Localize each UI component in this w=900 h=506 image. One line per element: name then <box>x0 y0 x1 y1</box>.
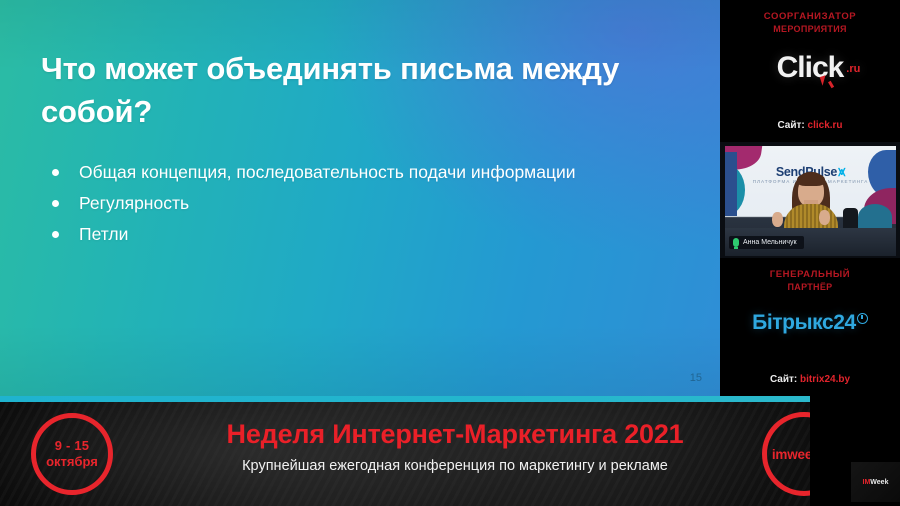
event-subtitle: Крупнейшая ежегодная конференция по марк… <box>190 457 720 476</box>
clock-ring-icon <box>857 313 868 324</box>
sponsor-card-coorganizer[interactable]: СООРГАНИЗАТОР мероприятия Click .ru Сайт… <box>720 0 900 142</box>
sponsor-heading: СООРГАНИЗАТОР мероприятия <box>720 11 900 35</box>
bullet-dot-icon <box>52 200 59 207</box>
event-date-badge: 9 - 15 октября <box>31 413 113 495</box>
sponsor-heading: ГЕНЕРАЛЬНЫЙ партнёр <box>720 269 900 293</box>
site-url[interactable]: click.ru <box>808 120 843 131</box>
bullet-dot-icon <box>52 169 59 176</box>
event-banner: 9 - 15 октября Неделя Интернет-Маркетинг… <box>0 396 900 506</box>
pulse-icon: ⩙ <box>838 164 845 179</box>
presenter-hand-right <box>819 210 830 225</box>
sponsor-heading-line2: партнёр <box>720 281 900 293</box>
backdrop-shape-blue-left <box>725 152 737 216</box>
sponsor-heading-line1: СООРГАНИЗАТОР <box>764 11 857 22</box>
event-title: Неделя Интернет-Маркетинга 2021 <box>190 417 720 451</box>
clickru-logo: Click .ru <box>720 52 900 96</box>
site-label: Сайт: <box>770 374 797 385</box>
presentation-slide: Что может объединять письма между собой?… <box>0 0 720 396</box>
speaker-name-badge: Анна Мельничук <box>729 236 804 249</box>
sponsor-heading-line2: мероприятия <box>720 23 900 35</box>
imweek-watermark-suffix: Week <box>870 479 888 486</box>
imweek-watermark: IMWeek <box>851 462 900 502</box>
sponsor-rail: СООРГАНИЗАТОР мероприятия Click .ru Сайт… <box>720 0 900 396</box>
sponsor-site-line: Сайт: bitrix24.by <box>720 374 900 385</box>
slide-bullet-list: Общая концепция, последовательность пода… <box>46 158 646 251</box>
bitrix24-wordmark: Бітрыкс24 <box>752 311 868 334</box>
speaker-name: Анна Мельничук <box>743 239 797 246</box>
sponsor-card-general-partner[interactable]: ГЕНЕРАЛЬНЫЙ партнёр Бітрыкс24 Сайт: bitr… <box>720 258 900 396</box>
banner-accent-line <box>0 396 810 402</box>
presenter-hand-left <box>772 212 783 227</box>
event-headline-block: Неделя Интернет-Маркетинга 2021 Крупнейш… <box>190 417 720 476</box>
bitrix24-name: Бітрыкс24 <box>752 311 856 334</box>
backdrop-shape-teal-right <box>858 204 892 230</box>
site-label: Сайт: <box>777 120 804 131</box>
event-date-month: октября <box>46 454 98 470</box>
event-date-range: 9 - 15 <box>55 438 89 454</box>
sponsor-site-line: Сайт: click.ru <box>720 120 900 131</box>
mic-status-icon <box>733 238 739 247</box>
slide-page-number: 15 <box>690 372 702 384</box>
sponsor-heading-line1: ГЕНЕРАЛЬНЫЙ <box>770 269 850 280</box>
site-url[interactable]: bitrix24.by <box>800 374 850 385</box>
broadcast-screen: Что может объединять письма между собой?… <box>0 0 900 506</box>
presenter-fringe <box>797 173 825 186</box>
video-frame: SendPulse⩙ ПЛАТФОРМА ИНТЕРНЕТ-МАРКЕТИНГА… <box>725 146 896 256</box>
speaker-video-feed[interactable]: SendPulse⩙ ПЛАТФОРМА ИНТЕРНЕТ-МАРКЕТИНГА… <box>720 142 900 258</box>
clickru-name: Click <box>777 51 844 84</box>
bullet-text: Петли <box>79 224 128 244</box>
imweek-watermark-text: IMWeek <box>863 479 889 486</box>
clickru-tld: .ru <box>846 53 860 85</box>
bitrix24-logo: Бітрыкс24 <box>720 310 900 354</box>
list-item: Общая концепция, последовательность пода… <box>46 158 646 187</box>
bullet-text: Регулярность <box>79 193 189 213</box>
list-item: Петли <box>46 220 646 249</box>
bullet-text: Общая концепция, последовательность пода… <box>79 162 576 182</box>
bullet-dot-icon <box>52 231 59 238</box>
list-item: Регулярность <box>46 189 646 218</box>
clickru-wordmark: Click .ru <box>777 52 844 84</box>
slide-title: Что может объединять письма между собой? <box>41 47 641 133</box>
